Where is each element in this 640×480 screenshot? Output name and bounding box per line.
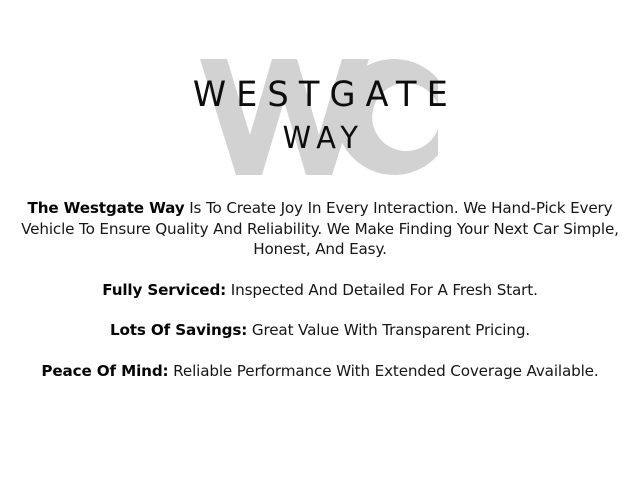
intro-paragraph: The Westgate Way Is To Create Joy In Eve… [16, 198, 624, 260]
feature-paragraph: Fully Serviced: Inspected And Detailed F… [16, 280, 624, 301]
feature-paragraph: Lots Of Savings: Great Value With Transp… [16, 320, 624, 341]
feature-lead: Fully Serviced: [102, 281, 226, 299]
feature-lead: Peace Of Mind: [41, 362, 168, 380]
feature-body: Inspected And Detailed For A Fresh Start… [226, 281, 538, 299]
feature-lead: Lots Of Savings: [110, 321, 247, 339]
westgate-way-promo-card: WESTGATE WAY The Westgate Way Is To Crea… [0, 0, 640, 480]
feature-body: Great Value With Transparent Pricing. [247, 321, 530, 339]
brand-subtitle: WAY [276, 124, 365, 154]
brand-lockup: WESTGATE WAY [0, 48, 640, 183]
brand-header: WESTGATE WAY [0, 48, 640, 183]
promo-copy: The Westgate Way Is To Create Joy In Eve… [16, 198, 624, 381]
feature-paragraph: Peace Of Mind: Reliable Performance With… [16, 361, 624, 382]
intro-lead: The Westgate Way [28, 199, 185, 217]
feature-body: Reliable Performance With Extended Cover… [168, 362, 598, 380]
brand-name: WESTGATE [182, 78, 457, 113]
